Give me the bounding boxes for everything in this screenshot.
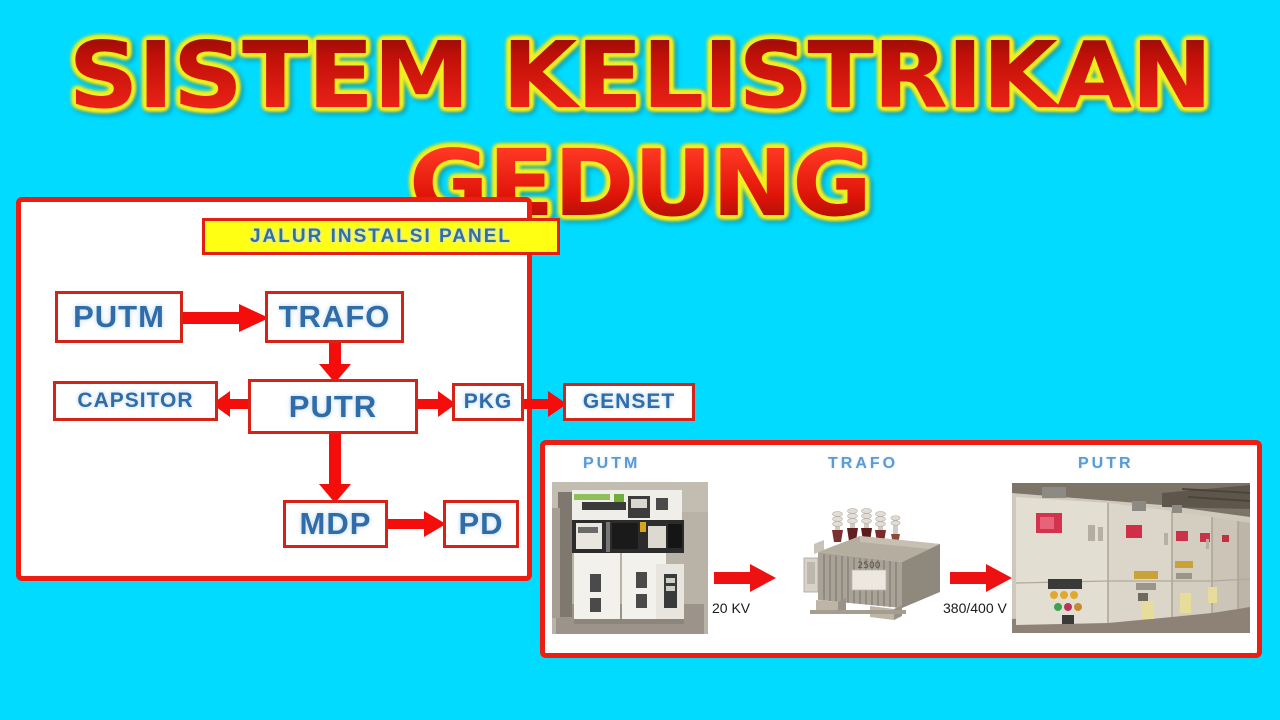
photo-label-trafo: TRAFO (828, 455, 898, 473)
photo-label-putr: PUTR (1078, 455, 1134, 473)
diagram-node-capsitor[interactable]: CAPSITOR (53, 381, 218, 421)
arrow-mdp-to-pd (386, 511, 446, 537)
arrow-trafo-to-putr-photo (950, 564, 1012, 592)
arrow-trafo-to-putr (318, 340, 352, 384)
diagram-node-genset[interactable]: GENSET (563, 383, 695, 421)
photo-putm-switchgear (552, 482, 708, 634)
diagram-node-label: GENSET (583, 390, 675, 414)
slide-canvas: SISTEM KELISTRIKAN GEDUNG JALUR INSTALSI… (0, 0, 1280, 720)
diagram-heading-text: JALUR INSTALSI PANEL (250, 226, 512, 248)
diagram-heading-badge: JALUR INSTALSI PANEL (202, 218, 560, 255)
voltage-label-output: 380/400 V (943, 600, 1007, 616)
diagram-node-pd[interactable]: PD (443, 500, 519, 548)
diagram-node-label: PD (458, 506, 503, 542)
arrow-putm-to-trafo-photo (714, 564, 776, 592)
diagram-node-pkg[interactable]: PKG (452, 383, 524, 421)
diagram-node-label: PUTM (73, 299, 165, 335)
diagram-node-label: TRAFO (279, 299, 391, 335)
photo-putr-lv-panels (1012, 483, 1250, 633)
arrow-putr-to-pkg (414, 391, 456, 417)
photo-label-putm: PUTM (583, 455, 640, 473)
diagram-node-label: PUTR (289, 389, 377, 425)
svg-text:2500: 2500 (858, 561, 881, 571)
arrow-putm-to-trafo (181, 303, 269, 333)
arrow-pkg-to-genset (521, 391, 567, 417)
arrow-putr-to-mdp (318, 430, 352, 504)
diagram-node-label: CAPSITOR (77, 389, 193, 413)
diagram-node-label: PKG (464, 390, 513, 414)
diagram-node-putr[interactable]: PUTR (248, 379, 418, 434)
photo-trafo-transformer: 2500 (790, 492, 965, 627)
voltage-label-input: 20 KV (712, 600, 750, 616)
diagram-node-label: MDP (300, 506, 372, 542)
diagram-node-trafo[interactable]: TRAFO (265, 291, 404, 343)
diagram-node-mdp[interactable]: MDP (283, 500, 388, 548)
page-title: SISTEM KELISTRIKAN GEDUNG (0, 22, 1280, 142)
diagram-node-putm[interactable]: PUTM (55, 291, 183, 343)
